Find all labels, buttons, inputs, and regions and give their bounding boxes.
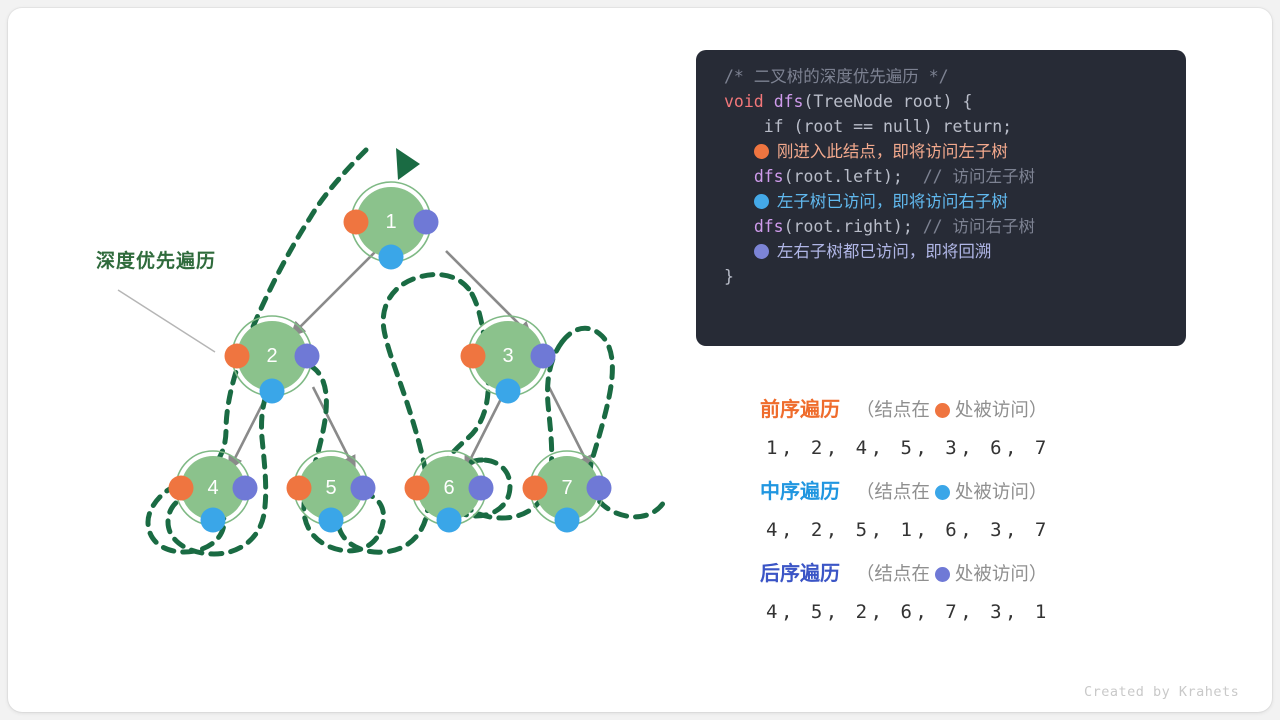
node-5-value: 5: [325, 477, 336, 499]
node-2-pre-marker: [225, 344, 250, 369]
inorder-swatch-icon: [935, 485, 950, 500]
node-3-pre-marker: [461, 344, 486, 369]
tree-node-1[interactable]: 1: [344, 182, 439, 270]
node-5-post-marker: [351, 476, 376, 501]
node-3-post-marker: [531, 344, 556, 369]
code-note-postorder: 左右子树都已访问，即将回溯: [696, 239, 1186, 264]
tree-node-7[interactable]: 7: [523, 451, 612, 533]
tree-node-2[interactable]: 2: [225, 316, 320, 404]
traversal-orders: 前序遍历 （结点在处被访问） 1, 2, 4, 5, 3, 6, 7 中序遍历 …: [760, 393, 1180, 639]
preorder-paren-close: 处被访问）: [955, 399, 1048, 420]
postorder-heading: 后序遍历 （结点在处被访问）: [760, 557, 1180, 591]
tree-node-4[interactable]: 4: [169, 451, 258, 533]
inorder-sequence: 4, 2, 5, 1, 6, 3, 7: [766, 519, 1180, 541]
code-keyword-void: void: [724, 92, 764, 111]
inorder-paren-close: 处被访问）: [955, 481, 1048, 502]
preorder-heading: 前序遍历 （结点在处被访问）: [760, 393, 1180, 427]
code-note-postorder-text: 左右子树都已访问，即将回溯: [777, 242, 992, 261]
node-4-value: 4: [207, 477, 218, 499]
code-block: /* 二叉树的深度优先遍历 */ void dfs(TreeNode root)…: [696, 50, 1186, 346]
code-line-left-call: dfs(root.left); // 访问左子树: [696, 164, 1186, 189]
code-left-comment: // 访问左子树: [923, 167, 1035, 186]
node-6-post-marker: [469, 476, 494, 501]
watermark: Created by Krahets: [1084, 684, 1239, 700]
dfs-annotation-label: 深度优先遍历: [96, 246, 216, 273]
tree-node-3[interactable]: 3: [461, 316, 556, 404]
postorder-swatch-icon: [935, 567, 950, 582]
code-line-comment-header: /* 二叉树的深度优先遍历 */: [696, 64, 1186, 89]
postorder-paren-close: 处被访问）: [955, 563, 1048, 584]
binary-tree-diagram: 1 2 3: [48, 108, 668, 608]
code-close-brace-text: }: [724, 267, 734, 286]
node-6-pre-marker: [405, 476, 430, 501]
preorder-swatch-icon: [935, 403, 950, 418]
node-2-post-marker: [295, 344, 320, 369]
node-6-value: 6: [443, 477, 454, 499]
code-fn-dfs-left: dfs: [754, 167, 784, 186]
node-7-value: 7: [561, 477, 572, 499]
node-4-in-marker: [201, 508, 226, 533]
code-null-check-text: if (root == null) return;: [764, 117, 1012, 136]
preorder-paren-open: （结点在: [856, 399, 930, 420]
preorder-name: 前序遍历: [760, 399, 840, 421]
code-right-comment: // 访问右子树: [923, 217, 1035, 236]
code-note-preorder: 刚进入此结点，即将访问左子树: [696, 139, 1186, 164]
node-1-in-marker: [379, 245, 404, 270]
inorder-name: 中序遍历: [760, 481, 840, 503]
node-6-in-marker: [437, 508, 462, 533]
node-3-value: 3: [502, 345, 513, 367]
inorder-dot-icon: [754, 194, 769, 209]
node-5-pre-marker: [287, 476, 312, 501]
code-line-right-call: dfs(root.right); // 访问右子树: [696, 214, 1186, 239]
code-fn-dfs-right: dfs: [754, 217, 784, 236]
annotation-leader-line: [118, 290, 215, 352]
node-5-in-marker: [319, 508, 344, 533]
postorder-name: 后序遍历: [760, 563, 840, 585]
code-note-inorder-text: 左子树已访问，即将访问右子树: [777, 192, 1008, 211]
node-2-in-marker: [260, 379, 285, 404]
node-4-pre-marker: [169, 476, 194, 501]
figure-card: 1 2 3: [8, 8, 1272, 712]
postorder-dot-icon: [754, 244, 769, 259]
node-7-pre-marker: [523, 476, 548, 501]
code-fn-dfs: dfs: [774, 92, 804, 111]
tree-node-6[interactable]: 6: [405, 451, 494, 533]
node-3-in-marker: [496, 379, 521, 404]
preorder-dot-icon: [754, 144, 769, 159]
node-7-post-marker: [587, 476, 612, 501]
code-line-signature: void dfs(TreeNode root) {: [696, 89, 1186, 114]
inorder-paren-open: （结点在: [856, 481, 930, 502]
node-7-in-marker: [555, 508, 580, 533]
play-triangle-icon: [396, 148, 420, 180]
inorder-heading: 中序遍历 （结点在处被访问）: [760, 475, 1180, 509]
postorder-paren-open: （结点在: [856, 563, 930, 584]
node-4-post-marker: [233, 476, 258, 501]
code-note-preorder-text: 刚进入此结点，即将访问左子树: [777, 142, 1008, 161]
edge-1-2: [291, 251, 376, 336]
postorder-sequence: 4, 5, 2, 6, 7, 3, 1: [766, 601, 1180, 623]
node-1-pre-marker: [344, 210, 369, 235]
node-1-post-marker: [414, 210, 439, 235]
preorder-sequence: 1, 2, 4, 5, 3, 6, 7: [766, 437, 1180, 459]
tree-node-5[interactable]: 5: [287, 451, 376, 533]
node-2-value: 2: [266, 345, 277, 367]
code-line-null-check: if (root == null) return;: [696, 114, 1186, 139]
code-signature-rest: (TreeNode root) {: [804, 92, 973, 111]
node-1-value: 1: [385, 211, 396, 233]
code-comment-header-text: /* 二叉树的深度优先遍历 */: [724, 67, 949, 86]
code-line-close-brace: }: [696, 264, 1186, 289]
code-note-inorder: 左子树已访问，即将访问右子树: [696, 189, 1186, 214]
